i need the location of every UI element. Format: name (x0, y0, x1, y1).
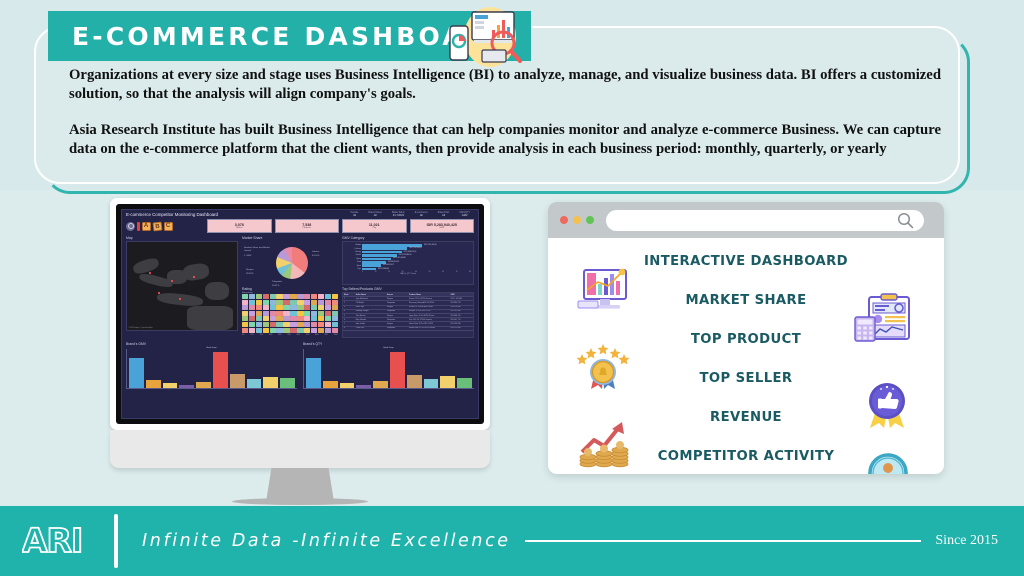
rating-cell (276, 322, 282, 327)
ari-logo: ARI (22, 521, 92, 561)
rating-cell (263, 294, 269, 299)
brand-gmv-bars (126, 349, 297, 389)
kpi-cards: 3,078Sellers7,538Products11,021CityIDR 5… (207, 219, 474, 233)
table-cell: Shopee (386, 306, 408, 309)
pie-note-4: Shopee (246, 269, 254, 272)
market-share-and-rating: Market Share Number Share and Market Gro… (242, 234, 338, 338)
table-cell: Prima Cell (355, 327, 386, 330)
brand-bar-icon (137, 222, 140, 231)
monitor-mockup: E-commerce Competitor Monitoring Dashboa… (110, 198, 490, 488)
dashboard-title: E-commerce Competitor Monitoring Dashboa… (126, 212, 218, 217)
rating-cell (242, 322, 248, 327)
gmv-bar-label: Food (345, 261, 361, 263)
maximize-icon[interactable] (586, 216, 594, 224)
browser-window[interactable]: INTERACTIVE DASHBOARD MARKET SHARE TOP P… (548, 202, 944, 474)
dashboard-row-3: Brand's GMV Brand Group XiaomiVivoOppoSa… (122, 339, 478, 391)
brand-bar (457, 378, 472, 389)
gmv-bars: GadgetIDR 2,231,490,30FashionIDR 1,702,3… (345, 244, 471, 270)
minimize-icon[interactable] (573, 216, 581, 224)
table-cell: Shopee (386, 297, 408, 300)
rating-cell (270, 328, 276, 333)
rating-cell (325, 322, 331, 327)
gmv-tick: 80 (469, 271, 471, 273)
table-cell: 4 (343, 310, 355, 313)
rating-tick: 100% (334, 334, 338, 336)
rating-heatmap[interactable] (242, 294, 338, 333)
rating-axis: 0%10%20%30%40%50%60%70%80%90%100% (242, 334, 338, 336)
dashboard-filter-1[interactable]: Brand OwnerAll (368, 212, 382, 217)
brand-bar-label: Samsung (356, 389, 371, 390)
rating-tick: 0% (242, 334, 244, 336)
rating-cell (297, 322, 303, 327)
brand-bar-label: Others (440, 389, 455, 390)
rating-cell (249, 322, 255, 327)
rating-cell (276, 300, 282, 305)
brand-bar (424, 379, 439, 388)
rating-cell (290, 322, 296, 327)
rating-cell (256, 316, 262, 321)
rating-cell (304, 311, 310, 316)
brand-qty-bars (303, 349, 474, 389)
table-cell: Realme 11 Pro Plus 12/512 (408, 310, 450, 313)
rating-cell (270, 311, 276, 316)
table-cell: Gudang Gadget (355, 310, 386, 313)
gmv-bar-label: Fashion (345, 248, 361, 250)
footer-tagline: Infinite Data -Infinite Excellence (142, 531, 511, 551)
rating-cell (325, 311, 331, 316)
logo-tile-c: C (164, 222, 173, 231)
rating-cell (311, 294, 317, 299)
brand-bar (340, 383, 355, 388)
rating-cell (276, 328, 282, 333)
rating-cell (290, 305, 296, 310)
table-cell: IDR 1,102,480 (450, 297, 473, 300)
gmv-bar-value: IDR 690,520,71 (383, 265, 394, 266)
rating-cell (270, 305, 276, 310)
table-cell: Xiaomi 12 Pro 8/256 Garansi (408, 297, 450, 300)
rating-tick: 20% (260, 334, 263, 336)
brand-bar (356, 385, 371, 388)
table-cell: Tokopedia (386, 310, 408, 313)
rating-cell (256, 300, 262, 305)
pie-note-2: Jakarta (312, 251, 319, 254)
rating-cell (318, 305, 324, 310)
rating-cell (325, 300, 331, 305)
monitor-chart-icon (576, 268, 632, 316)
search-bar[interactable] (606, 210, 924, 231)
brand-bar (146, 380, 161, 388)
brand-bar-label: Realme (229, 389, 244, 390)
rating-cell (318, 300, 324, 305)
table-body: 1Jaya ElektronikShopeeXiaomi 12 Pro 8/25… (343, 297, 473, 331)
browser-toolbar (548, 202, 944, 238)
brand-bar-label: Advan (246, 389, 261, 390)
rating-label: Rating (242, 287, 338, 291)
table-cell: 3 (343, 306, 355, 309)
top-sellers-label: Top Sellers/Products GMV (342, 287, 474, 291)
pie-note-5: 28.33% (246, 273, 253, 276)
gmv-bar-row: HomeIDR 1,012,440,88 (345, 258, 471, 261)
intro-paragraph-1: Organizations at every size and stage us… (69, 66, 941, 105)
gmv-bar (362, 247, 407, 250)
close-icon[interactable] (560, 216, 568, 224)
rating-cell (332, 322, 338, 327)
rating-cell (283, 316, 289, 321)
report-clipboard-icon (853, 293, 913, 345)
gmv-bar-row: HealthIDR 1,210,880,00 (345, 254, 471, 257)
table-cell: 8 (343, 327, 355, 330)
rating-cell (332, 300, 338, 305)
table-cell: IDR 512,680 (450, 327, 473, 330)
rating-cell (283, 300, 289, 305)
gmv-bar-value: IDR 842,310,45 (388, 262, 399, 263)
logo-tile-b: B (152, 221, 162, 231)
rating-cell (256, 322, 262, 327)
dashboard-filter-3[interactable]: E-commerceAll (415, 212, 428, 217)
rating-cell (297, 294, 303, 299)
gmv-bar-value: IDR 1,702,300,12 (409, 248, 422, 249)
rating-cell (332, 305, 338, 310)
rating-cell (304, 300, 310, 305)
rating-cell (290, 311, 296, 316)
rating-cell (304, 316, 310, 321)
rating-tick: 80% (315, 334, 318, 336)
rating-cell (249, 311, 255, 316)
rating-cell (242, 294, 248, 299)
brand-bar (306, 358, 321, 388)
rating-cell (318, 311, 324, 316)
table-cell: IDR 688,120 (450, 314, 473, 317)
monitor-bezel: E-commerce Competitor Monitoring Dashboa… (110, 198, 490, 430)
gmv-bar-row: GadgetIDR 2,231,490,30 (345, 244, 471, 247)
rating-cell (325, 294, 331, 299)
rating-cell (304, 322, 310, 327)
gmv-bar-label: Sport (345, 265, 361, 267)
rating-cell (242, 316, 248, 321)
map-canvas[interactable]: © 2023 Mapbox © OpenStreetMap (126, 241, 238, 331)
gmv-bar-value: IDR 512,880,03 (378, 269, 389, 270)
footer-bar: ARI Infinite Data -Infinite Excellence S… (0, 506, 1024, 576)
brand-bar (196, 382, 211, 388)
footer-since: Since 2015 (935, 533, 998, 549)
coin-growth-icon (576, 420, 632, 468)
rating-tick: 60% (297, 334, 300, 336)
dashboard-filters[interactable]: PeriodeAllBrand OwnerAllBatas Tahun31-Y2… (351, 212, 474, 217)
gmv-bar-label: Gadget (345, 244, 361, 246)
kpi-card-0: 3,078Sellers (207, 219, 272, 233)
rating-cell (283, 322, 289, 327)
feature-list: INTERACTIVE DASHBOARD MARKET SHARE TOP P… (548, 238, 944, 474)
brand-bar-label: Xiaomi (128, 389, 143, 390)
brand-bar (263, 377, 278, 388)
rating-cell (263, 300, 269, 305)
rating-cell (290, 328, 296, 333)
table-cell: 1 (343, 297, 355, 300)
kpi-card-1: 7,538Products (275, 219, 340, 233)
table-column-header: GMV (450, 293, 473, 296)
brand-bar-label: Vivo (145, 389, 160, 390)
rating-cell (242, 328, 248, 333)
table-cell: Shopee (386, 314, 408, 317)
gmv-bar (362, 258, 391, 261)
monitor-stand-base (232, 498, 368, 505)
table-cell: Redmi Note 12 Pro 8/256 Resmi (408, 327, 450, 330)
pie-note-6: Tokopedia (272, 281, 282, 284)
rating-cell (318, 316, 324, 321)
table-cell: 6 (343, 318, 355, 321)
brand-bar (163, 383, 178, 388)
rating-tick: 40% (278, 334, 281, 336)
rating-cell (270, 300, 276, 305)
table-cell: IDR 548,330 (450, 322, 473, 325)
gmv-bar-label: Beauty (345, 251, 361, 253)
search-icon[interactable] (897, 212, 914, 229)
rating-cell (283, 328, 289, 333)
rating-cell (297, 305, 303, 310)
rating-cell (276, 305, 282, 310)
rating-cell (256, 328, 262, 333)
gmv-bar (362, 244, 422, 247)
rating-cell (311, 300, 317, 305)
gold-medal-icon (576, 342, 630, 390)
rating-tick: 50% (287, 334, 290, 336)
brand-gmv-chart[interactable]: Brand's GMV Brand Group XiaomiVivoOppoSa… (126, 340, 297, 390)
pie-note-0: Number Share and Market Growth (244, 247, 274, 253)
brand-qty-axis: XiaomiVivoOppoSamsungInfinixTokopediaRea… (303, 389, 474, 390)
rating-cell (304, 328, 310, 333)
rating-cell (318, 322, 324, 327)
brand-bar-label: Oppo (339, 389, 354, 390)
map-attribution: © 2023 Mapbox © OpenStreetMap (128, 328, 153, 329)
search-input[interactable] (616, 214, 897, 226)
pie-note-1: 1. GMV (244, 255, 251, 258)
rating-cell (249, 328, 255, 333)
gmv-bar-value: IDR 1,488,120,54 (404, 252, 417, 253)
rating-cell (304, 305, 310, 310)
logo-tile-a: A (142, 222, 151, 231)
rating-cell (263, 316, 269, 321)
gmv-tick: 0 (362, 271, 363, 273)
rating-cell (297, 311, 303, 316)
table-cell: Sinar Jaya (355, 306, 386, 309)
gmv-axis-title: GMV or QTY Count (345, 273, 471, 275)
rating-cell (325, 316, 331, 321)
table-cell: CS Mobile (355, 301, 386, 304)
gmv-bar-row: BeautyIDR 1,488,120,54 (345, 251, 471, 254)
gmv-bar-label: Toys (345, 268, 361, 270)
gmv-bar-row: FashionIDR 1,702,300,12 (345, 247, 471, 250)
brand-bar (390, 352, 405, 388)
dashboard-filter-4[interactable]: Batas FilterAll (438, 212, 450, 217)
brand-bar (213, 352, 228, 388)
table-cell: Tokopedia (386, 318, 408, 321)
rating-cell (332, 311, 338, 316)
rating-cell (297, 328, 303, 333)
brand-bar (407, 375, 422, 389)
brand-bar (280, 378, 295, 388)
table-column-header: Rank (343, 293, 355, 296)
thumbs-up-badge-icon (860, 380, 914, 430)
rating-cell (249, 294, 255, 299)
table-cell: Samsung Galaxy A54 5G 8/256 (408, 301, 450, 304)
kpi-card-3: IDR 5,283,940,425GMV (410, 219, 475, 233)
table-cell: Vivo V29 5G 12/256 Garansi (408, 318, 450, 321)
rating-tick: 10% (250, 334, 253, 336)
brand-gmv-label: Brand's GMV (126, 342, 297, 346)
table-cell: Shopee (386, 322, 408, 325)
rating-cell (270, 322, 276, 327)
gmv-bar-row: FoodIDR 842,310,45 (345, 261, 471, 264)
pie-note-3: 43.16% (312, 255, 319, 258)
intro-text-block: Organizations at every size and stage us… (69, 66, 941, 160)
feature-label-interactive-dashboard[interactable]: INTERACTIVE DASHBOARD (548, 254, 944, 269)
brand-bar (247, 379, 262, 388)
rating-cell (311, 328, 317, 333)
table-cell: Oppo Reno 10 5G 8/256 Resmi (408, 314, 450, 317)
window-controls[interactable] (560, 216, 594, 224)
table-column-header: Seller Name (355, 293, 386, 296)
rating-cell (242, 305, 248, 310)
rating-cell (332, 328, 338, 333)
brand-bar (440, 376, 455, 388)
gmv-bar (362, 264, 381, 267)
table-cell: Tokopedia (386, 301, 408, 304)
rating-cell (263, 311, 269, 316)
magnifier-person-icon (860, 453, 912, 474)
rating-cell (263, 322, 269, 327)
rating-tick: 90% (324, 334, 327, 336)
rating-cell (242, 300, 248, 305)
logo-divider (114, 514, 118, 568)
rating-cell (283, 305, 289, 310)
brand-bar-label: Xiaomi (305, 389, 320, 390)
brand-bar-label: Samsung (179, 389, 194, 390)
brand-qty-label: Brand's QTY (303, 342, 474, 346)
bi-dashboard[interactable]: E-commerce Competitor Monitoring Dashboa… (121, 209, 479, 419)
brand-bar-label: Oppo (162, 389, 177, 390)
market-share-pie[interactable] (276, 247, 308, 279)
rating-cell (276, 316, 282, 321)
dashboard-header: E-commerce Competitor Monitoring Dashboa… (122, 210, 478, 217)
dashboard-row-2: Map (122, 233, 478, 339)
map-panel[interactable]: Map (126, 234, 238, 338)
rating-cell (283, 311, 289, 316)
gmv-bar-label: Home (345, 258, 361, 260)
rating-cell (276, 294, 282, 299)
gmv-tick: 60 (442, 271, 444, 273)
gmv-bar-value: IDR 2,231,490,30 (424, 245, 437, 246)
market-share-label: Market Share (242, 236, 338, 240)
rating-cell (311, 316, 317, 321)
gmv-tick: 20 (388, 271, 390, 273)
rating-cell (290, 294, 296, 299)
dashboard-logos: A B C (126, 222, 204, 231)
table-cell: Infinix Note 30 Pro NFC 8/256 (408, 322, 450, 325)
table-cell: 5 (343, 314, 355, 317)
rating-cell (325, 328, 331, 333)
rating-cell (242, 311, 248, 316)
table-cell: Toko Berkah (355, 314, 386, 317)
gmv-bar (362, 268, 376, 271)
table-row[interactable]: 8Prima CellTokopediaRedmi Note 12 Pro 8/… (343, 327, 473, 331)
brand-bar-label: Others (263, 389, 278, 390)
gmv-bar (362, 254, 397, 257)
rating-cell (290, 300, 296, 305)
gmv-category-label: GMV Category (342, 236, 474, 240)
gmv-tick: 50 (429, 271, 431, 273)
dashboard-filter-5[interactable]: GMV/QTYGMV (459, 212, 470, 217)
brand-bar-label: Realme (406, 389, 421, 390)
rating-cell (290, 316, 296, 321)
rating-cell (270, 316, 276, 321)
table-cell: IDR 984,210 (450, 301, 473, 304)
intro-paragraph-2: Asia Research Institute has built Busine… (69, 121, 941, 160)
gmv-tick: 10 (375, 271, 377, 273)
gmv-bar (362, 251, 402, 254)
brand-bar-label: Lainnya (280, 389, 295, 390)
brand-qty-chart[interactable]: Brand's QTY Brand Group XiaomiVivoOppoSa… (303, 340, 474, 390)
table-cell: IDR 742,900 (450, 310, 473, 313)
rating-cell (318, 328, 324, 333)
brand-bar-label: Tokopedia (390, 389, 405, 390)
svg-text:ARI: ARI (22, 522, 82, 560)
table-cell: 7 (343, 322, 355, 325)
footer-rule (525, 540, 922, 542)
gmv-bar-value: IDR 1,012,440,88 (393, 258, 406, 259)
rating-cell (263, 305, 269, 310)
market-share-pie-panel[interactable]: Number Share and Market Growth 1. GMV Ja… (242, 241, 338, 285)
top-sellers-table[interactable]: RankSeller NameSourceProduct NameGMV 1Ja… (342, 292, 474, 338)
rating-panel[interactable]: Rating Group 0%10%20%30%40%50%60%70%80%9… (242, 292, 338, 338)
brand-bar-label: Infinix (373, 389, 388, 390)
brand-bar-label: Vivo (322, 389, 337, 390)
table-cell: iPhone 14 128GB iBox Resmi (408, 306, 450, 309)
brand-bar-label: Tokopedia (213, 389, 228, 390)
rating-cell (256, 294, 262, 299)
table-cell: Indo Seluler (355, 322, 386, 325)
rating-cell (297, 300, 303, 305)
brand-bar (373, 381, 388, 388)
rating-cell (332, 316, 338, 321)
gmv-and-sellers: GMV Category GadgetIDR 2,231,490,30Fashi… (342, 234, 474, 338)
rating-cell (249, 305, 255, 310)
brand-bar-label: Advan (423, 389, 438, 390)
table-cell: Jaya Elektronik (355, 297, 386, 300)
rating-cell (256, 305, 262, 310)
monitor-screen: E-commerce Competitor Monitoring Dashboa… (116, 204, 484, 424)
rating-cell (304, 294, 310, 299)
gmv-category-chart[interactable]: GadgetIDR 2,231,490,30FashionIDR 1,702,3… (342, 241, 474, 285)
dashboard-filter-2[interactable]: Batas Tahun31-Y2023 (392, 212, 405, 217)
rating-cell (270, 294, 276, 299)
gmv-bar-row: SportIDR 690,520,71 (345, 264, 471, 267)
gmv-tick: 70 (456, 271, 458, 273)
brand-gmv-axis: XiaomiVivoOppoSamsungInfinixTokopediaRea… (126, 389, 297, 390)
table-cell: Tokopedia (386, 327, 408, 330)
gmv-bar-row: ToysIDR 512,880,03 (345, 268, 471, 271)
brand-bar-label: Infinix (196, 389, 211, 390)
brand-bar-label: Lainnya (457, 389, 472, 390)
rating-cell (318, 294, 324, 299)
gmv-bar (362, 261, 386, 264)
table-column-header: Product Name (408, 293, 450, 296)
rating-cell (325, 305, 331, 310)
pie-note-7: 20.51% (272, 285, 279, 288)
dashboard-analytics-icon (444, 6, 530, 68)
brand-bar (230, 374, 245, 388)
table-column-header: Source (386, 293, 408, 296)
dashboard-filter-0[interactable]: PeriodeAll (351, 212, 359, 217)
